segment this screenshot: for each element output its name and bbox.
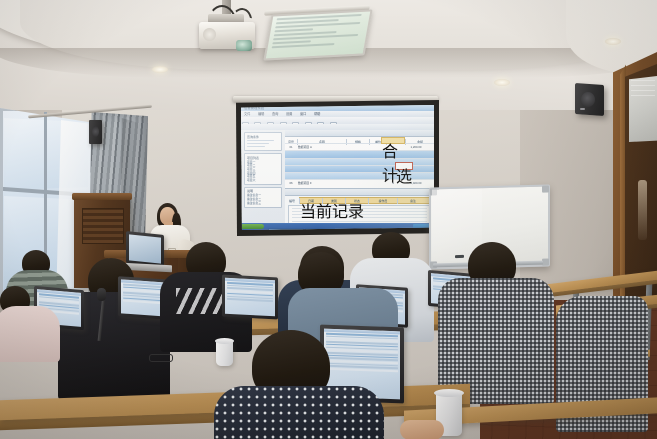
notes-box: 说明 备注信息一 备注信息二 备注信息三 — [244, 187, 282, 208]
classroom-scene: 信息管理系统 文件 编辑 查询 设置 窗口 帮助 查 — [0, 0, 657, 439]
paper-cup-foreground-rim — [434, 389, 464, 397]
app-workspace: 查询条件 项目列表 项目一 项目二 项目三 项目四 项目五 项目六 说明 备注信… — [241, 130, 434, 223]
projection-screen: 信息管理系统 文件 编辑 查询 设置 窗口 帮助 查 — [241, 105, 434, 230]
projector-vent-icon — [203, 28, 216, 41]
cell: 06 — [285, 180, 297, 186]
app-left-panel: 查询条件 项目列表 项目一 项目二 项目三 项目四 项目五 项目六 说明 备注信… — [241, 130, 286, 223]
lower-header-row: 编号日期类别状态操作员备注 — [285, 189, 434, 196]
eyeglasses — [149, 354, 173, 362]
notes-row: 备注信息三 — [247, 202, 279, 206]
app-lower-panel[interactable]: 编号日期类别状态操作员备注 当前记录 — [285, 188, 434, 224]
reflective-ceiling-panel — [263, 9, 372, 60]
selected-cell-box[interactable]: 选中 — [395, 162, 413, 170]
whiteboard-marker[interactable] — [455, 255, 464, 258]
grid-header-row: 序号名称规格单位数量金额 — [285, 130, 434, 137]
cell: 数据项目 F — [297, 180, 346, 186]
amber-highlight-field[interactable]: 合计 — [381, 137, 405, 144]
filter-box[interactable]: 查询条件 — [244, 132, 282, 151]
attendee-foreground-dot — [214, 386, 384, 439]
cabinet-carved-panel — [82, 208, 124, 244]
projector-lens-icon — [236, 40, 252, 51]
microphone[interactable] — [97, 288, 106, 301]
paper-cup-center-rim — [215, 338, 234, 344]
presenter-laptop-screen — [129, 234, 161, 263]
table-row[interactable]: 01数据项目 A11,200.00 — [285, 137, 434, 144]
lower-col-0[interactable]: 编号 — [285, 198, 300, 204]
laptop-center-1-screen — [225, 278, 275, 317]
attendee-hand — [400, 420, 444, 439]
cabinet-top — [72, 193, 132, 200]
speaker-cone-left-icon — [92, 126, 99, 137]
tree-row[interactable]: 项目六 — [247, 179, 279, 183]
downlight-center-icon — [494, 79, 510, 86]
filter-title: 查询条件 — [247, 135, 279, 139]
speaker-cone-right-icon — [581, 92, 595, 107]
lower-col-5[interactable]: 备注 — [398, 198, 428, 204]
downlight-right-icon — [605, 38, 621, 45]
table-row[interactable]: 02数据项目 B22,400.00 — [285, 144, 434, 151]
attendee-left-pink — [0, 306, 60, 362]
downlight-left-icon — [152, 66, 168, 73]
table-row[interactable]: 03数据项目 C1860.00 — [285, 151, 434, 158]
door-frosted-glass — [629, 76, 657, 142]
app-data-grid[interactable]: 序号名称规格单位数量金额 01数据项目 A11,200.00 02数据项目 B2… — [285, 130, 434, 188]
lower-col-4[interactable]: 操作员 — [369, 198, 398, 204]
speaker-led-icon — [580, 108, 585, 110]
tree-box[interactable]: 项目列表 项目一 项目二 项目三 项目四 项目五 项目六 — [244, 153, 282, 185]
door-reflection — [638, 180, 647, 240]
start-button[interactable]: 开始 — [242, 224, 264, 229]
